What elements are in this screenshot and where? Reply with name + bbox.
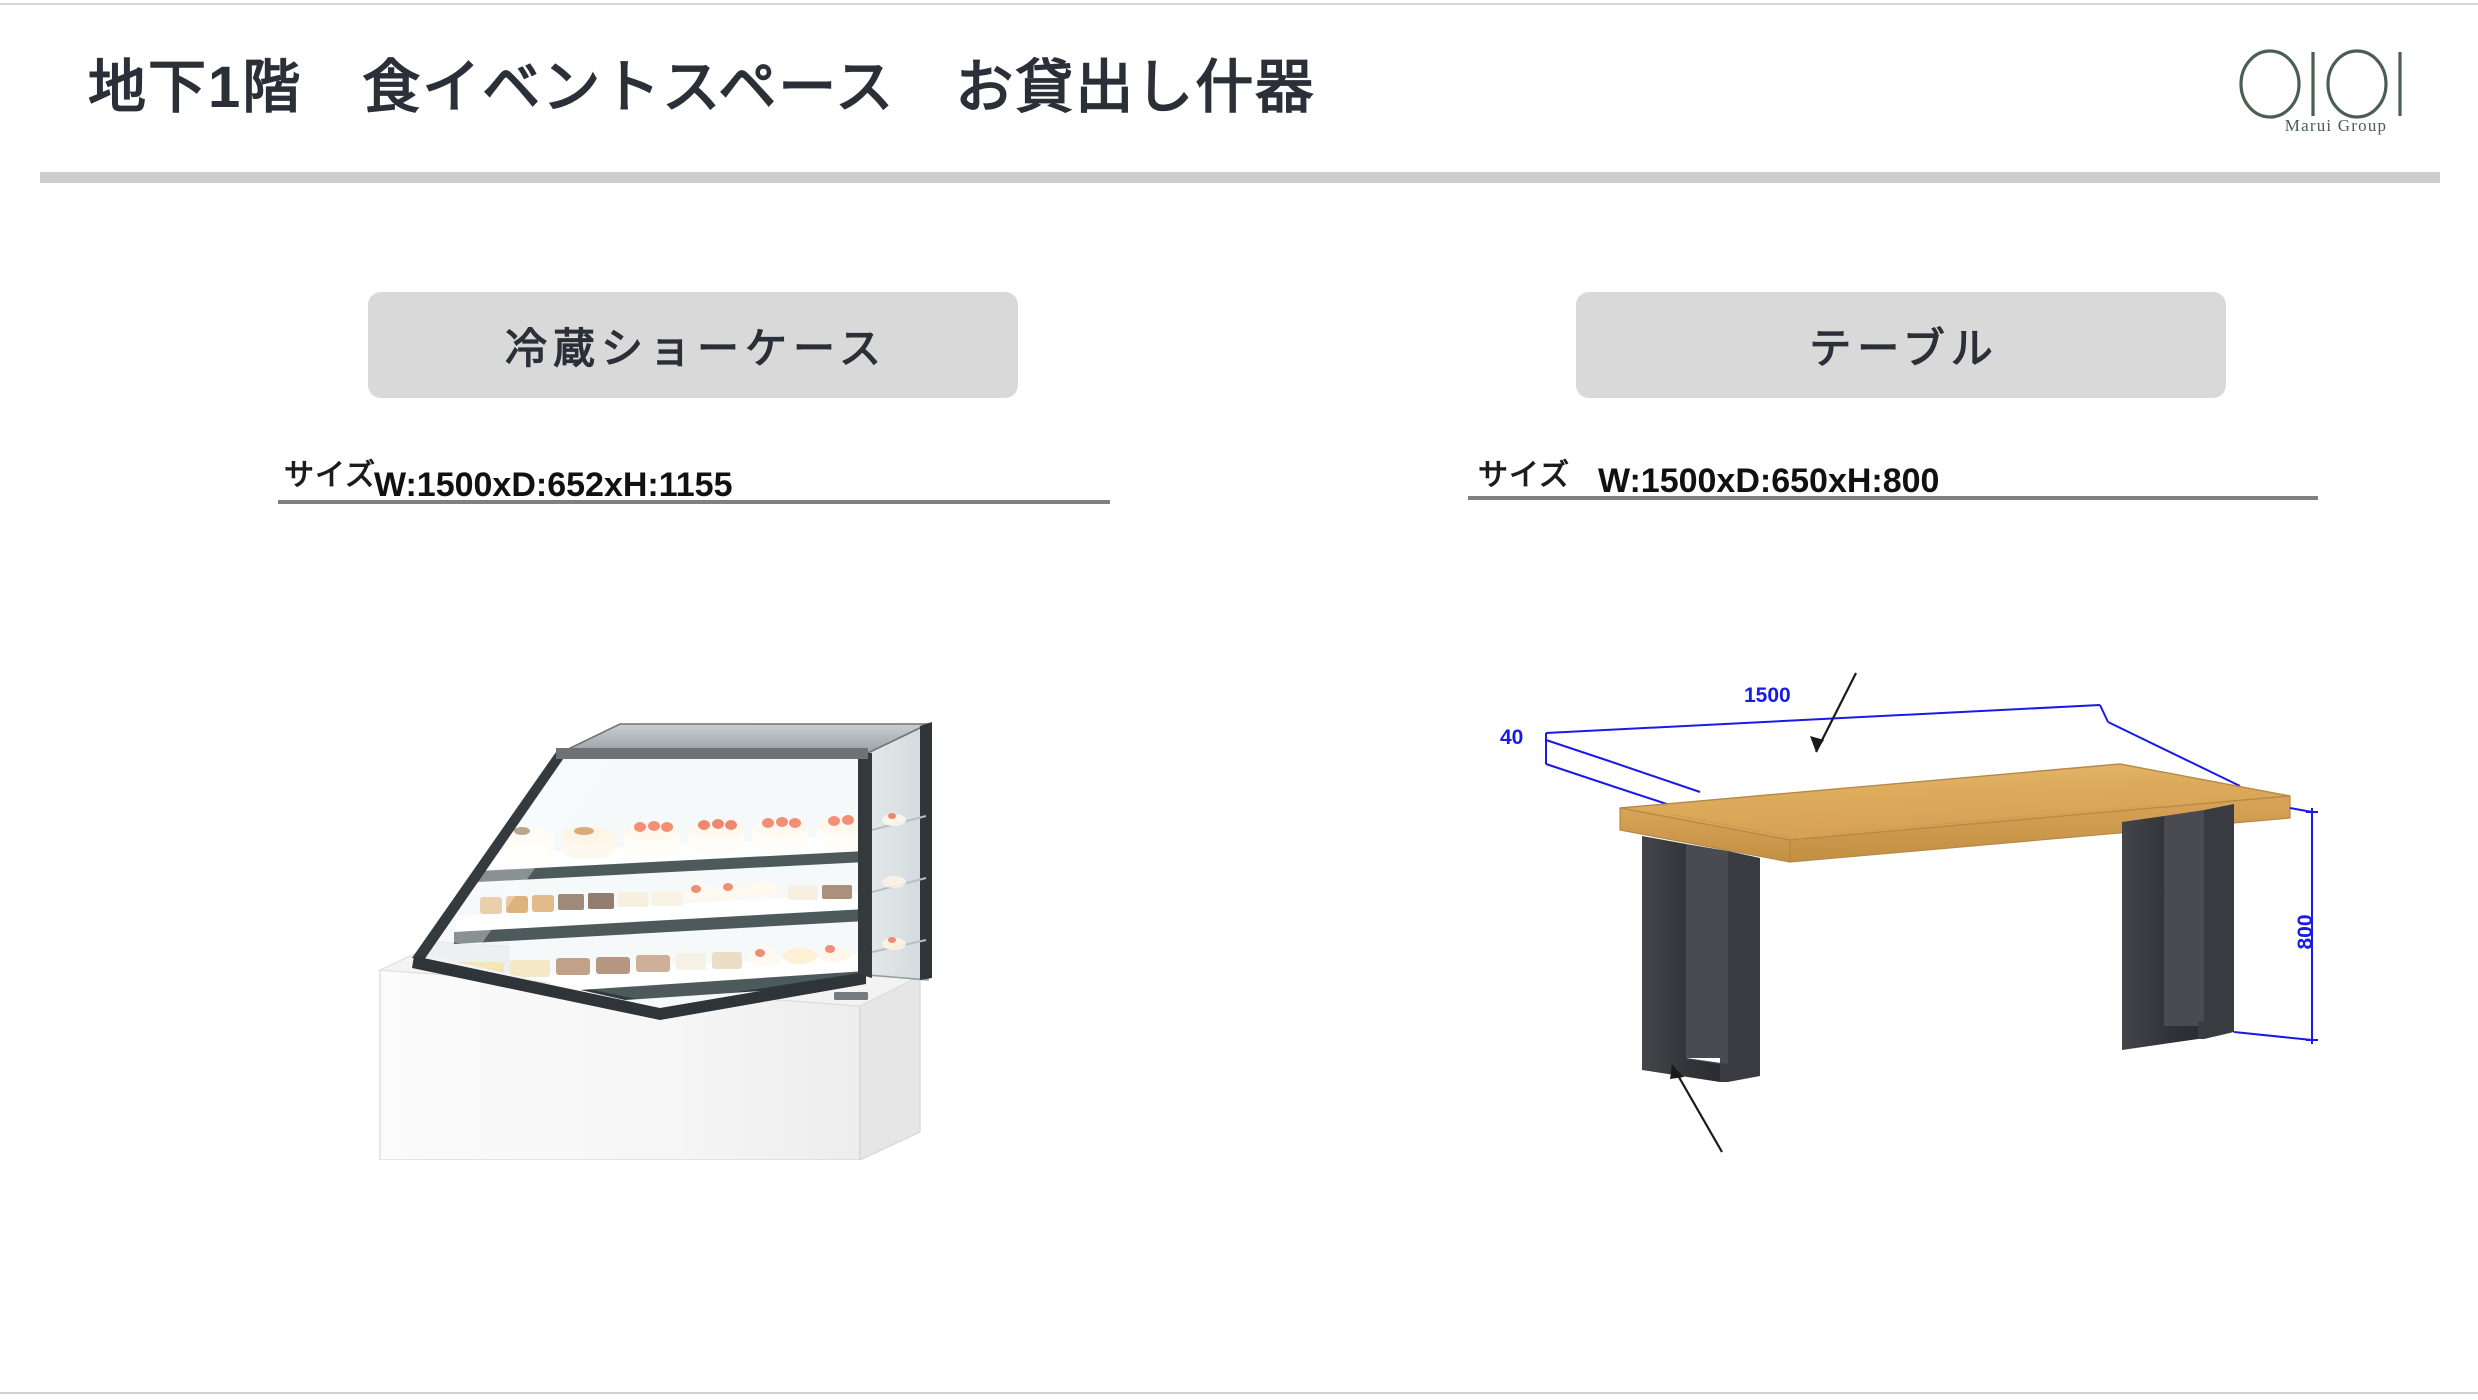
oioi-logo-mark — [2236, 48, 2436, 120]
logo-wordmark: Marui Group — [2236, 116, 2436, 136]
dimension-height-800: 800 — [2234, 808, 2318, 1044]
size-label-showcase: サイズ — [284, 450, 376, 494]
section-heading-label: テーブル — [1803, 315, 1998, 376]
top-hairline — [0, 3, 2478, 5]
table-technical-drawing: 1500 40 — [1460, 640, 2360, 1160]
slide-page: 地下1階 食イベントスペース お貸出し什器 Marui Group 冷蔵ショーケ… — [0, 0, 2478, 1400]
page-title: 地下1階 食イベントスペース お貸出し什器 — [88, 52, 1315, 125]
size-label-table: サイズ — [1478, 450, 1570, 494]
section-heading-label: 冷蔵ショーケース — [499, 315, 887, 376]
refrigerated-showcase-photo — [360, 640, 1000, 1160]
size-underline-table — [1468, 496, 2318, 500]
dimension-label-1500: 1500 — [1744, 684, 1791, 707]
section-heading-refrigerated-showcase: 冷蔵ショーケース — [368, 292, 1018, 398]
section-heading-table: テーブル — [1576, 292, 2226, 398]
table-leg-right — [2122, 804, 2234, 1050]
table-leg-left — [1642, 836, 1760, 1082]
dimension-label-800: 800 — [2294, 914, 2317, 949]
marui-group-logo: Marui Group — [2236, 48, 2436, 146]
size-underline-showcase — [278, 500, 1110, 504]
dimension-label-40: 40 — [1500, 726, 1523, 749]
bottom-hairline — [0, 1392, 2478, 1394]
dimension-thickness-40: 40 — [1500, 726, 1700, 815]
header-divider-rule — [40, 172, 2440, 183]
callout-tabletop — [1810, 673, 1856, 752]
